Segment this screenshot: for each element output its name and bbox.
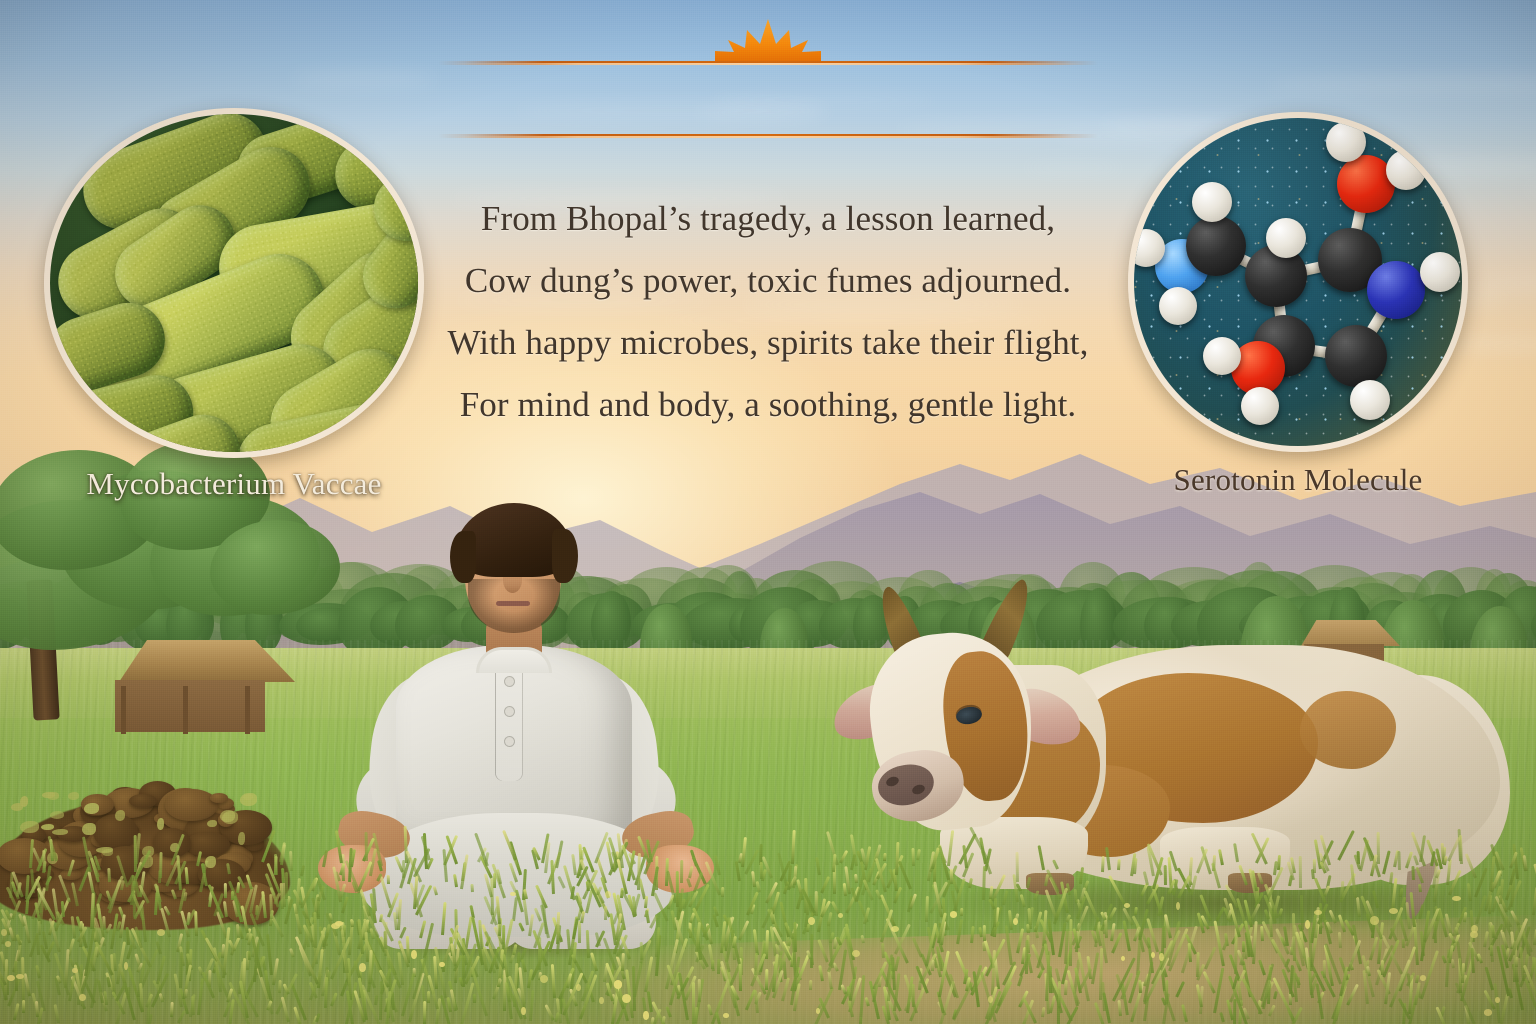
dung-clod [93, 814, 137, 850]
cow-patch [1300, 691, 1396, 769]
grass-blade [396, 907, 399, 919]
grass-blade [1101, 856, 1105, 873]
dung-sprout [11, 803, 24, 810]
grass-blade [692, 982, 695, 1024]
wild-flower [1495, 997, 1500, 1003]
wild-flower [1389, 908, 1398, 914]
grass-blade [42, 850, 46, 872]
grass-blade [191, 996, 195, 1015]
wild-flower [411, 950, 417, 959]
dung-clod [210, 793, 229, 803]
cloud [1024, 163, 1122, 172]
wild-flower [808, 917, 815, 925]
dung-sprout [47, 792, 59, 800]
wild-flower [838, 913, 843, 918]
wild-flower [16, 974, 24, 979]
wild-flower [5, 941, 11, 947]
grass-blade [698, 979, 701, 1003]
wild-flower [540, 975, 548, 983]
wild-flower [1484, 1009, 1493, 1015]
inset-molecule: Serotonin Molecule [1128, 112, 1468, 452]
man-mouth [496, 601, 530, 606]
wild-flower [359, 963, 366, 972]
hut-wall [115, 680, 265, 732]
grass-blade [1015, 852, 1018, 882]
dung-sprout [220, 810, 235, 822]
inset-molecule-caption: Serotonin Molecule [1128, 462, 1468, 498]
poem-line-3: With happy microbes, spirits take their … [418, 312, 1118, 374]
wild-flower [439, 962, 444, 967]
hydrogen-atom [1241, 387, 1279, 425]
grass-blade [950, 869, 953, 884]
grass-blade [170, 1002, 174, 1017]
grass-blade [236, 924, 240, 938]
carbon-atom [1186, 216, 1246, 276]
grass-blade [604, 906, 607, 920]
grass-blade [1297, 977, 1300, 988]
thatched-hut-left [95, 640, 295, 740]
inset-bacteria-caption: Mycobacterium Vaccae [44, 466, 424, 502]
masthead-rule-bottom [438, 134, 1098, 138]
grass-blade [1515, 957, 1518, 967]
masthead: SANATANI NEWS [0, 0, 1536, 160]
grass-blade [159, 852, 163, 878]
resting-cow [830, 555, 1520, 975]
inset-molecule-ring [1128, 112, 1468, 452]
kurta-button [505, 707, 514, 716]
hut-post [121, 686, 126, 734]
man-hair-side-left [450, 531, 476, 583]
hydrogen-atom [1420, 252, 1460, 292]
grass-blade [1461, 963, 1465, 984]
news-poster: SANATANI NEWS From Bhopal’s tragedy, a l… [0, 0, 1536, 1024]
hydrogen-atom [1192, 182, 1232, 222]
inset-bacteria-ring [44, 108, 424, 458]
hydrogen-atom [1350, 380, 1390, 420]
grass-blade [1069, 919, 1072, 966]
grass-blade [255, 905, 259, 916]
wild-flower [614, 980, 623, 988]
kurta-button [505, 677, 514, 686]
grass-blade [285, 872, 288, 899]
grass-blade [427, 991, 430, 1003]
site-title: SANATANI NEWS [435, 54, 1102, 134]
site-title-text: SANATANI NEWS [458, 54, 1078, 134]
grass-blade [925, 896, 929, 922]
inset-bacteria: Mycobacterium Vaccae [44, 108, 424, 458]
man-hair-side-right [552, 529, 578, 583]
wild-flower [622, 994, 631, 1003]
dung-sprout [52, 829, 68, 835]
grass-blade [578, 921, 581, 943]
grass-blade [274, 854, 278, 875]
kurta-collar [476, 647, 552, 673]
dung-clod [165, 789, 218, 822]
grass-blade [721, 887, 724, 897]
wild-flower [1305, 920, 1310, 929]
dung-sprout [84, 803, 99, 814]
grass-blade [1163, 865, 1166, 885]
kurta-button [505, 737, 514, 746]
grass-blade [22, 1000, 25, 1013]
wild-flower [599, 997, 603, 1003]
grass-blade [1242, 941, 1245, 952]
nitrogen-atom-ring [1367, 261, 1425, 319]
grass-blade [1025, 940, 1029, 974]
poem-block: From Bhopal’s tragedy, a lesson learned,… [418, 188, 1118, 436]
grass-blade [379, 981, 383, 1020]
wild-flower [816, 1008, 821, 1013]
grass-blade [676, 871, 679, 907]
wild-flower [1420, 975, 1426, 981]
grass-blade [1322, 960, 1325, 978]
wild-flower [79, 994, 85, 1001]
grass-blade [1138, 980, 1142, 993]
dung-sprout [41, 824, 54, 830]
dung-sprout [68, 792, 79, 800]
dung-sprout [50, 811, 65, 819]
grass-blade [278, 980, 282, 993]
wild-flower [1452, 896, 1461, 901]
wild-flower [643, 1011, 648, 1019]
grass-blade [639, 942, 642, 960]
grass-blade [793, 922, 797, 952]
wild-flower [1471, 925, 1478, 933]
dung-sprout [238, 832, 245, 845]
grass-blade [637, 853, 641, 890]
grass-blade [313, 912, 317, 948]
grass-blade [324, 977, 328, 1008]
poem-line-4: For mind and body, a soothing, gentle li… [418, 374, 1118, 436]
grass-blade [1337, 932, 1341, 949]
grass-blade [1300, 895, 1304, 930]
hut-roof [95, 640, 295, 682]
wild-flower [1013, 918, 1018, 925]
wild-flower [1314, 910, 1322, 915]
wild-flower [72, 968, 77, 973]
grass-blade [983, 925, 986, 941]
wild-flower [723, 1013, 729, 1018]
wild-flower [510, 892, 516, 897]
poem-line-2: Cow dung’s power, toxic fumes adjourned. [418, 250, 1118, 312]
grass-blade [912, 984, 915, 1007]
dung-sprout [82, 823, 96, 836]
hydrogen-atom [1159, 287, 1197, 325]
hydrogen-atom [1128, 229, 1165, 267]
wild-flower [1370, 916, 1379, 925]
grass-blade [680, 860, 683, 883]
grass-blade [1299, 856, 1302, 888]
hydrogen-atom [1203, 337, 1241, 375]
wild-flower [1159, 953, 1164, 961]
grass-blade [854, 873, 858, 882]
poem-line-1: From Bhopal’s tragedy, a lesson learned, [418, 188, 1118, 250]
hut-post [245, 686, 250, 734]
wild-flower [7, 975, 15, 982]
grass-blade [1058, 981, 1061, 1008]
dung-sprout [243, 794, 253, 800]
grass-blade [621, 952, 625, 970]
dung-clod [129, 794, 157, 808]
dung-sprout [157, 818, 164, 830]
grass-blade [1377, 832, 1380, 864]
grass-blade [1117, 859, 1121, 871]
grass-blade [765, 969, 768, 990]
hut-post [183, 686, 188, 734]
grass-blade [717, 959, 720, 974]
wild-flower [1124, 903, 1130, 908]
wild-flower [1, 929, 6, 936]
grass-blade [387, 875, 390, 885]
carbon-atom [1325, 325, 1387, 387]
grass-blade [224, 883, 227, 898]
grass-blade [470, 884, 474, 893]
hydrogen-atom [1266, 218, 1306, 258]
grass-blade [107, 868, 111, 882]
dung-sprout [20, 821, 39, 833]
grass-blade [289, 851, 293, 871]
dung-sprout [207, 820, 217, 827]
grass-blade [982, 866, 986, 900]
grass-blade [221, 944, 225, 958]
grass-blade [960, 908, 963, 916]
grass-blade [760, 862, 763, 879]
grass-blade [1381, 960, 1384, 975]
